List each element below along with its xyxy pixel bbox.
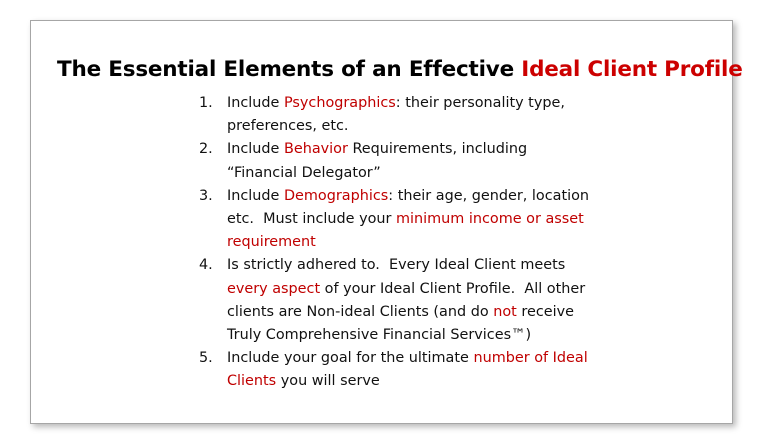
list-item-text: Include Psychographics: their personalit… bbox=[227, 92, 589, 138]
list-item-number: 4. bbox=[199, 254, 227, 277]
list-item-segment-red: not bbox=[493, 304, 517, 320]
list-item-segment-red: Demographics bbox=[284, 188, 388, 204]
list-item-segment-black: Is strictly adhered to. Every Ideal Clie… bbox=[227, 257, 565, 273]
list-item-segment-black: Include your goal for the ultimate bbox=[227, 350, 473, 366]
list-item-segment-red: Behavior bbox=[284, 141, 348, 157]
list-item-segment-red: Psychographics bbox=[284, 95, 396, 111]
list-item-number: 5. bbox=[199, 347, 227, 370]
list-item-segment-red: every aspect bbox=[227, 281, 320, 297]
list-item-segment-black: Include bbox=[227, 188, 284, 204]
list-item: 5.Include your goal for the ultimate num… bbox=[199, 347, 589, 393]
presentation-canvas: The Essential Elements of an Effective I… bbox=[0, 0, 768, 444]
list-item-segment-black: Include bbox=[227, 141, 284, 157]
list-item-text: Is strictly adhered to. Every Ideal Clie… bbox=[227, 254, 589, 347]
slide-title-red-segment: Ideal Client Profile bbox=[521, 57, 742, 82]
list-item: 1.Include Psychographics: their personal… bbox=[199, 92, 589, 138]
slide-frame: The Essential Elements of an Effective I… bbox=[30, 20, 733, 424]
list-item-number: 1. bbox=[199, 92, 227, 115]
slide-title: The Essential Elements of an Effective I… bbox=[57, 57, 717, 83]
slide-title-black-segment: The Essential Elements of an Effective bbox=[57, 57, 521, 82]
list-item: 2.Include Behavior Requirements, includi… bbox=[199, 138, 589, 184]
numbered-list: 1.Include Psychographics: their personal… bbox=[199, 92, 589, 394]
list-item-segment-black: you will serve bbox=[276, 373, 380, 389]
list-item: 3.Include Demographics: their age, gende… bbox=[199, 185, 589, 255]
list-item-number: 3. bbox=[199, 185, 227, 208]
list-item-text: Include Behavior Requirements, including… bbox=[227, 138, 589, 184]
list-item-text: Include Demographics: their age, gender,… bbox=[227, 185, 589, 255]
list-item: 4.Is strictly adhered to. Every Ideal Cl… bbox=[199, 254, 589, 347]
list-item-segment-black: Include bbox=[227, 95, 284, 111]
list-item-number: 2. bbox=[199, 138, 227, 161]
list-item-text: Include your goal for the ultimate numbe… bbox=[227, 347, 589, 393]
